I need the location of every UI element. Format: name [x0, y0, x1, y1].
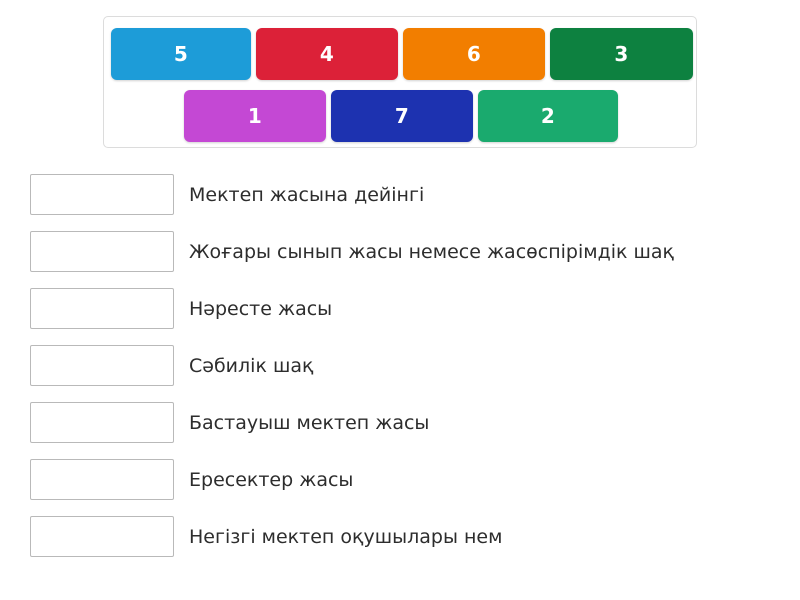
- draggable-tile[interactable]: 2: [478, 90, 618, 142]
- answer-drop-box[interactable]: [30, 345, 174, 386]
- answer-drop-box[interactable]: [30, 459, 174, 500]
- question-row: Негізгі мектеп оқушылары нем: [0, 508, 800, 565]
- question-label: Мектеп жасына дейінгі: [189, 183, 424, 207]
- draggable-tile[interactable]: 6: [403, 28, 545, 80]
- question-label: Бастауыш мектеп жасы: [189, 411, 429, 435]
- question-label: Негізгі мектеп оқушылары нем: [189, 525, 502, 549]
- question-label: Сәбилік шақ: [189, 354, 313, 378]
- answer-drop-box[interactable]: [30, 402, 174, 443]
- answer-drop-box[interactable]: [30, 288, 174, 329]
- answer-drop-box[interactable]: [30, 231, 174, 272]
- question-row: Жоғары сынып жасы немесе жасөспірімдік ш…: [0, 223, 800, 280]
- tile-bank: 5 4 6 3 1 7 2: [103, 16, 697, 148]
- tile-bank-row-2: 1 7 2: [184, 90, 618, 142]
- answer-drop-box[interactable]: [30, 174, 174, 215]
- question-label: Ересектер жасы: [189, 468, 353, 492]
- tile-bank-row-1: 5 4 6 3: [111, 28, 693, 80]
- question-row: Сәбилік шақ: [0, 337, 800, 394]
- question-label: Нәресте жасы: [189, 297, 332, 321]
- question-label: Жоғары сынып жасы немесе жасөспірімдік ш…: [189, 240, 674, 264]
- draggable-tile[interactable]: 4: [256, 28, 398, 80]
- draggable-tile[interactable]: 1: [184, 90, 326, 142]
- question-row: Нәресте жасы: [0, 280, 800, 337]
- question-row: Ересектер жасы: [0, 451, 800, 508]
- draggable-tile[interactable]: 5: [111, 28, 251, 80]
- draggable-tile[interactable]: 3: [550, 28, 693, 80]
- question-row: Мектеп жасына дейінгі: [0, 166, 800, 223]
- draggable-tile[interactable]: 7: [331, 90, 473, 142]
- question-list: Мектеп жасына дейінгі Жоғары сынып жасы …: [0, 166, 800, 565]
- question-row: Бастауыш мектеп жасы: [0, 394, 800, 451]
- answer-drop-box[interactable]: [30, 516, 174, 557]
